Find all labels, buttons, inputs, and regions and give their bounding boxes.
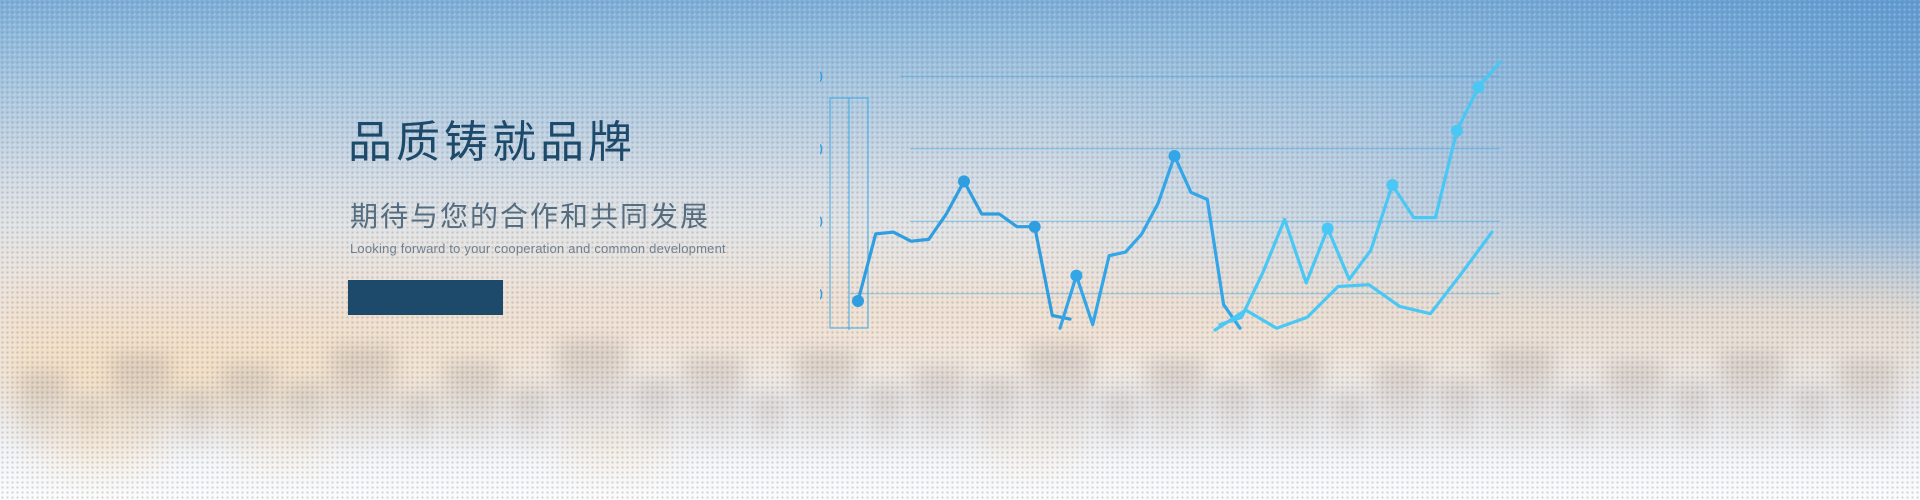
chart-tick-labels: 100000800006000040000: [820, 67, 823, 304]
chart-point-marker: [1070, 270, 1082, 282]
chart-point-marker: [1386, 179, 1398, 191]
chart-point-marker: [1322, 223, 1334, 235]
y-tick-40000: 40000: [820, 285, 823, 304]
hero-banner: 品质铸就品牌 期待与您的合作和共同发展 Looking forward to y…: [0, 0, 1920, 500]
chart-point-marker: [1473, 81, 1485, 93]
y-tick-60000: 60000: [820, 212, 823, 231]
chart-series: [852, 62, 1500, 330]
y-tick-100000: 100000: [820, 67, 823, 86]
chart-line-series-4: [1215, 232, 1492, 330]
chart-svg: 100000800006000040000: [820, 0, 1920, 500]
banner-english-tagline: Looking forward to your cooperation and …: [350, 241, 726, 256]
chart-point-marker: [852, 295, 864, 307]
chart-line-series-1: [858, 181, 1070, 319]
chart-line-series-2: [1060, 156, 1240, 328]
banner-subtitle: 期待与您的合作和共同发展: [350, 195, 726, 235]
cta-button[interactable]: [348, 280, 503, 315]
y-tick-80000: 80000: [820, 140, 823, 159]
page-title: 品质铸就品牌: [348, 118, 726, 169]
chart-point-marker: [1169, 150, 1181, 162]
chart-point-marker: [1029, 221, 1041, 233]
banner-text-block: 品质铸就品牌 期待与您的合作和共同发展 Looking forward to y…: [348, 118, 726, 315]
chart-point-marker: [958, 175, 970, 187]
chart-gridlines: [850, 76, 1500, 294]
chart-axis-bracket: [830, 98, 868, 330]
line-chart: 100000800006000040000: [820, 0, 1920, 500]
chart-point-marker: [1451, 125, 1463, 137]
